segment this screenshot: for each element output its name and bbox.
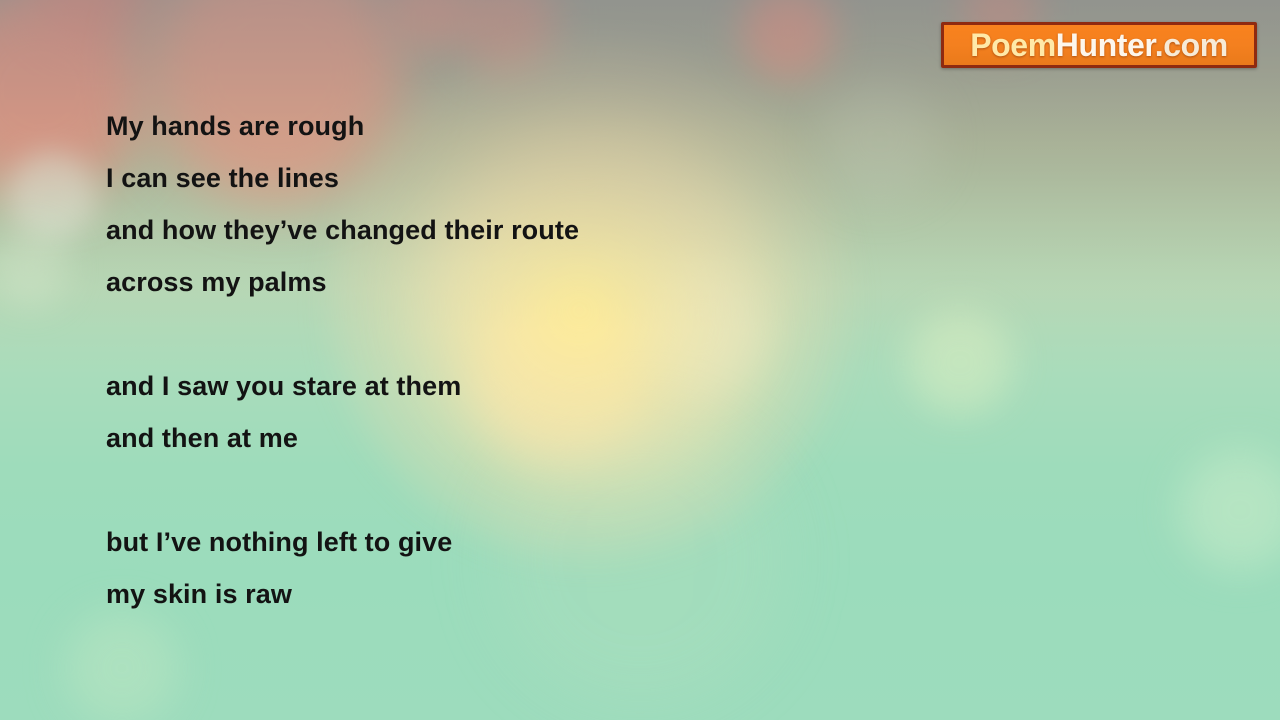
poemhunter-logo-badge[interactable]: PoemHunter.com (941, 22, 1257, 68)
poem-line: and I saw you stare at them (106, 360, 1056, 412)
poem-line: but I’ve nothing left to give (106, 516, 1056, 568)
logo-word-poem: Poem (970, 27, 1056, 63)
poem-line: and how they’ve changed their route (106, 204, 1056, 256)
poem-card: PoemHunter.com My hands are roughI can s… (0, 0, 1280, 720)
poem-line: my skin is raw (106, 568, 1056, 620)
poemhunter-logo-text: PoemHunter.com (970, 29, 1228, 61)
poem-line: across my palms (106, 256, 1056, 308)
logo-word-hunter: Hunter (1056, 27, 1155, 63)
poem-line: I can see the lines (106, 152, 1056, 204)
poem-line-blank (106, 308, 1056, 360)
poem-body: My hands are roughI can see the linesand… (106, 100, 1056, 620)
poem-line: My hands are rough (106, 100, 1056, 152)
poem-line: and then at me (106, 412, 1056, 464)
poem-line-blank (106, 464, 1056, 516)
logo-word-dotcom: .com (1155, 27, 1228, 63)
